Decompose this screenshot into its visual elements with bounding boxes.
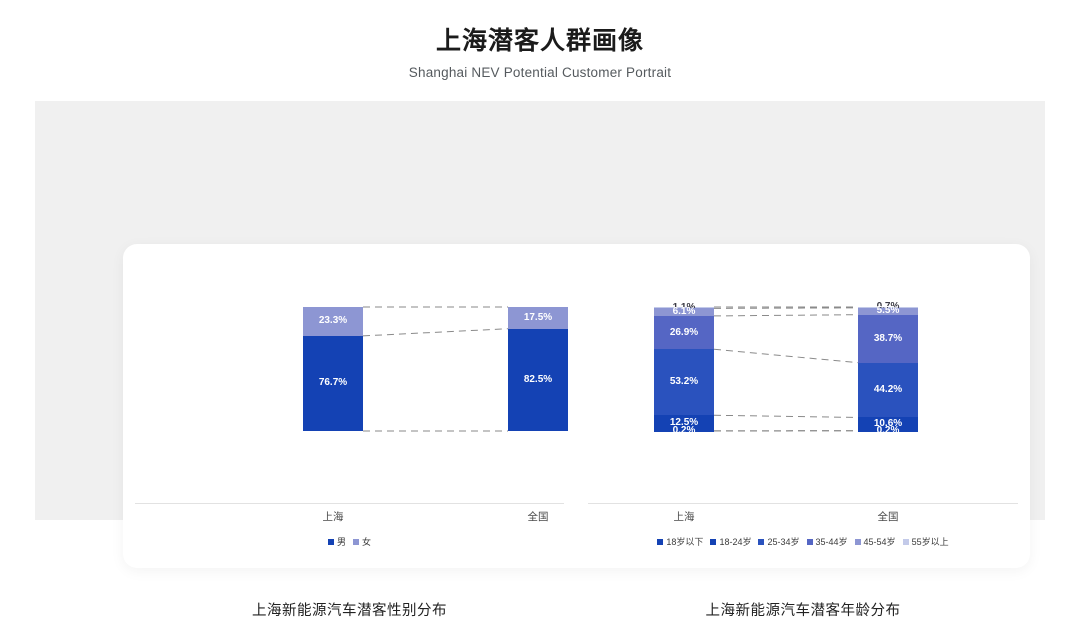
legend-item-18-24岁[interactable]: 18-24岁: [710, 535, 751, 548]
category-label-上海: 上海: [634, 509, 734, 524]
chart-caption: 上海新能源汽车潜客年龄分布: [576, 599, 1030, 620]
legend-label: 25-34岁: [767, 535, 799, 548]
bar-segment-45-54岁[interactable]: 6.1%: [654, 308, 714, 316]
bar-segment-35-44岁[interactable]: 26.9%: [654, 316, 714, 349]
page-title: 上海潜客人群画像: [0, 26, 1080, 56]
charts-card: 23.3%76.7%17.5%82.5%上海全国男女上海新能源汽车潜客性别分布 …: [123, 244, 1030, 568]
legend-label: 35-44岁: [816, 535, 848, 548]
bar-segment-label: 82.5%: [524, 375, 552, 385]
legend-item-45-54岁[interactable]: 45-54岁: [855, 535, 896, 548]
legend-item-25-34岁[interactable]: 25-34岁: [758, 535, 799, 548]
bar-segment-25-34岁[interactable]: 53.2%: [654, 349, 714, 415]
bar-segment-男[interactable]: 76.7%: [303, 336, 363, 431]
legend-item-18岁以下[interactable]: 18岁以下: [657, 535, 703, 548]
chart-legend: 18岁以下18-24岁25-34岁35-44岁45-54岁55岁以上: [576, 535, 1030, 548]
bar-segment-35-44岁[interactable]: 38.7%: [858, 315, 918, 363]
legend-swatch-icon: [758, 539, 764, 545]
bar-segment-label: 76.7%: [319, 378, 347, 388]
legend-label: 18-24岁: [719, 535, 751, 548]
bar-segment-label: 23.3%: [319, 316, 347, 326]
bar-全国[interactable]: 0.7%5.5%38.7%44.2%10.6%0.2%: [858, 307, 918, 431]
legend-label: 55岁以上: [912, 535, 949, 548]
legend-item-男[interactable]: 男: [328, 535, 346, 548]
bar-segment-label: 17.5%: [524, 313, 552, 323]
bar-segment-女[interactable]: 17.5%: [508, 307, 568, 329]
legend-label: 18岁以下: [666, 535, 703, 548]
x-axis-line: [588, 503, 1018, 504]
bar-segment-label: 0.2%: [877, 426, 900, 436]
bar-segment-label: 0.2%: [673, 426, 696, 436]
page-subtitle: Shanghai NEV Potential Customer Portrait: [0, 64, 1080, 82]
bar-segment-label: 38.7%: [874, 334, 902, 344]
page-header: 上海潜客人群画像 Shanghai NEV Potential Customer…: [0, 0, 1080, 82]
bar-segment-label: 44.2%: [874, 385, 902, 395]
bar-segment-45-54岁[interactable]: 5.5%: [858, 308, 918, 315]
x-axis-line: [135, 503, 564, 504]
legend-label: 45-54岁: [864, 535, 896, 548]
category-label-上海: 上海: [283, 509, 383, 524]
legend-label: 男: [337, 535, 346, 548]
chart-gender-distribution: 23.3%76.7%17.5%82.5%上海全国男女上海新能源汽车潜客性别分布: [123, 244, 576, 568]
legend-swatch-icon: [353, 539, 359, 545]
chart-legend: 男女: [123, 535, 576, 548]
bar-全国[interactable]: 17.5%82.5%: [508, 307, 568, 431]
bar-上海[interactable]: 23.3%76.7%: [303, 307, 363, 431]
bar-segment-男[interactable]: 82.5%: [508, 329, 568, 431]
category-label-全国: 全国: [838, 509, 938, 524]
bar-上海[interactable]: 1.1%6.1%26.9%53.2%12.5%0.2%: [654, 307, 714, 431]
legend-item-55岁以上[interactable]: 55岁以上: [903, 535, 949, 548]
legend-item-35-44岁[interactable]: 35-44岁: [807, 535, 848, 548]
bar-segment-女[interactable]: 23.3%: [303, 307, 363, 336]
bar-segment-label: 53.2%: [670, 377, 698, 387]
legend-swatch-icon: [328, 539, 334, 545]
plot-area: 1.1%6.1%26.9%53.2%12.5%0.2%0.7%5.5%38.7%…: [576, 244, 1030, 496]
legend-swatch-icon: [710, 539, 716, 545]
chart-age-distribution: 1.1%6.1%26.9%53.2%12.5%0.2%0.7%5.5%38.7%…: [576, 244, 1030, 568]
connector-lines: [576, 244, 1030, 496]
category-label-全国: 全国: [488, 509, 588, 524]
bar-segment-25-34岁[interactable]: 44.2%: [858, 363, 918, 418]
legend-label: 女: [362, 535, 371, 548]
plot-area: 23.3%76.7%17.5%82.5%: [123, 244, 576, 496]
chart-caption: 上海新能源汽车潜客性别分布: [123, 599, 576, 620]
legend-item-女[interactable]: 女: [353, 535, 371, 548]
legend-swatch-icon: [657, 539, 663, 545]
bar-segment-label: 26.9%: [670, 328, 698, 338]
legend-swatch-icon: [807, 539, 813, 545]
background-panel: 23.3%76.7%17.5%82.5%上海全国男女上海新能源汽车潜客性别分布 …: [35, 101, 1045, 520]
legend-swatch-icon: [855, 539, 861, 545]
legend-swatch-icon: [903, 539, 909, 545]
